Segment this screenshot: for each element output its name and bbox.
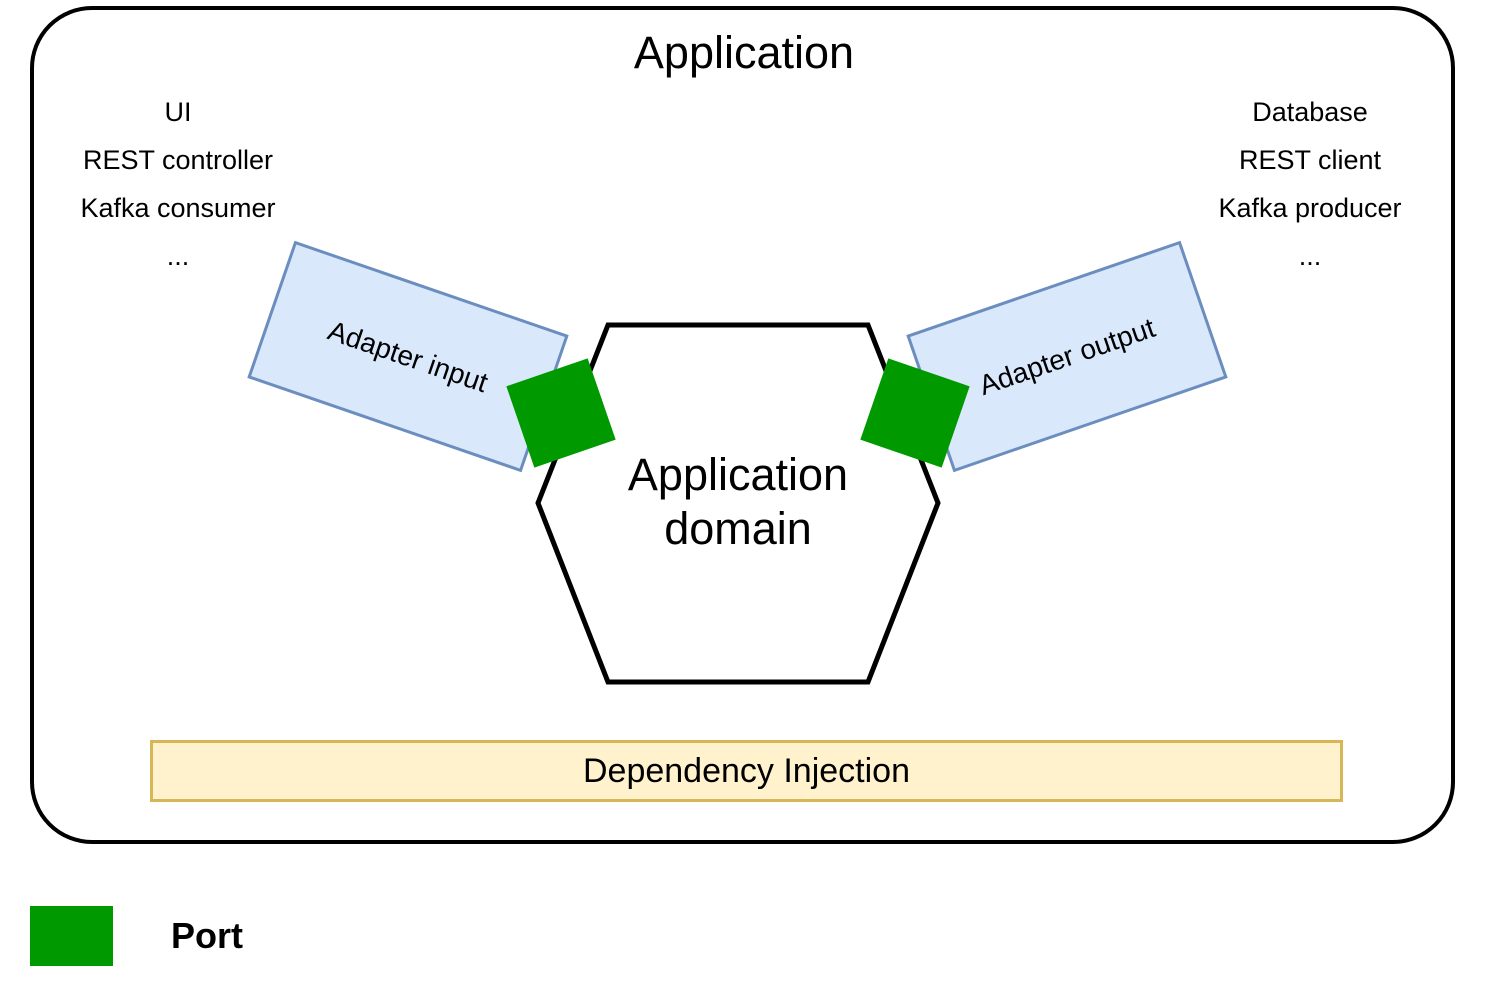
legend-port-swatch: [30, 906, 113, 966]
application-domain-label: Application domain: [530, 448, 946, 556]
dependency-injection-label: Dependency Injection: [583, 752, 910, 791]
diagram-canvas: Application UI REST controller Kafka con…: [0, 0, 1488, 994]
right-adapter-examples: Database REST client Kafka producer ...: [1140, 88, 1480, 280]
legend-port-label: Port: [171, 915, 243, 957]
left-label-rest-controller: REST controller: [8, 136, 348, 184]
adapter-output-label: Adapter output: [975, 311, 1159, 401]
domain-label-line2: domain: [530, 502, 946, 556]
right-label-rest-client: REST client: [1140, 136, 1480, 184]
domain-label-line1: Application: [530, 448, 946, 502]
right-label-database: Database: [1140, 88, 1480, 136]
right-label-kafka-producer: Kafka producer: [1140, 184, 1480, 232]
legend: Port: [30, 906, 243, 966]
page-title: Application: [0, 30, 1488, 75]
left-label-kafka-consumer: Kafka consumer: [8, 184, 348, 232]
adapter-input-label: Adapter input: [324, 314, 492, 398]
left-label-ui: UI: [8, 88, 348, 136]
dependency-injection-bar[interactable]: Dependency Injection: [150, 740, 1343, 802]
